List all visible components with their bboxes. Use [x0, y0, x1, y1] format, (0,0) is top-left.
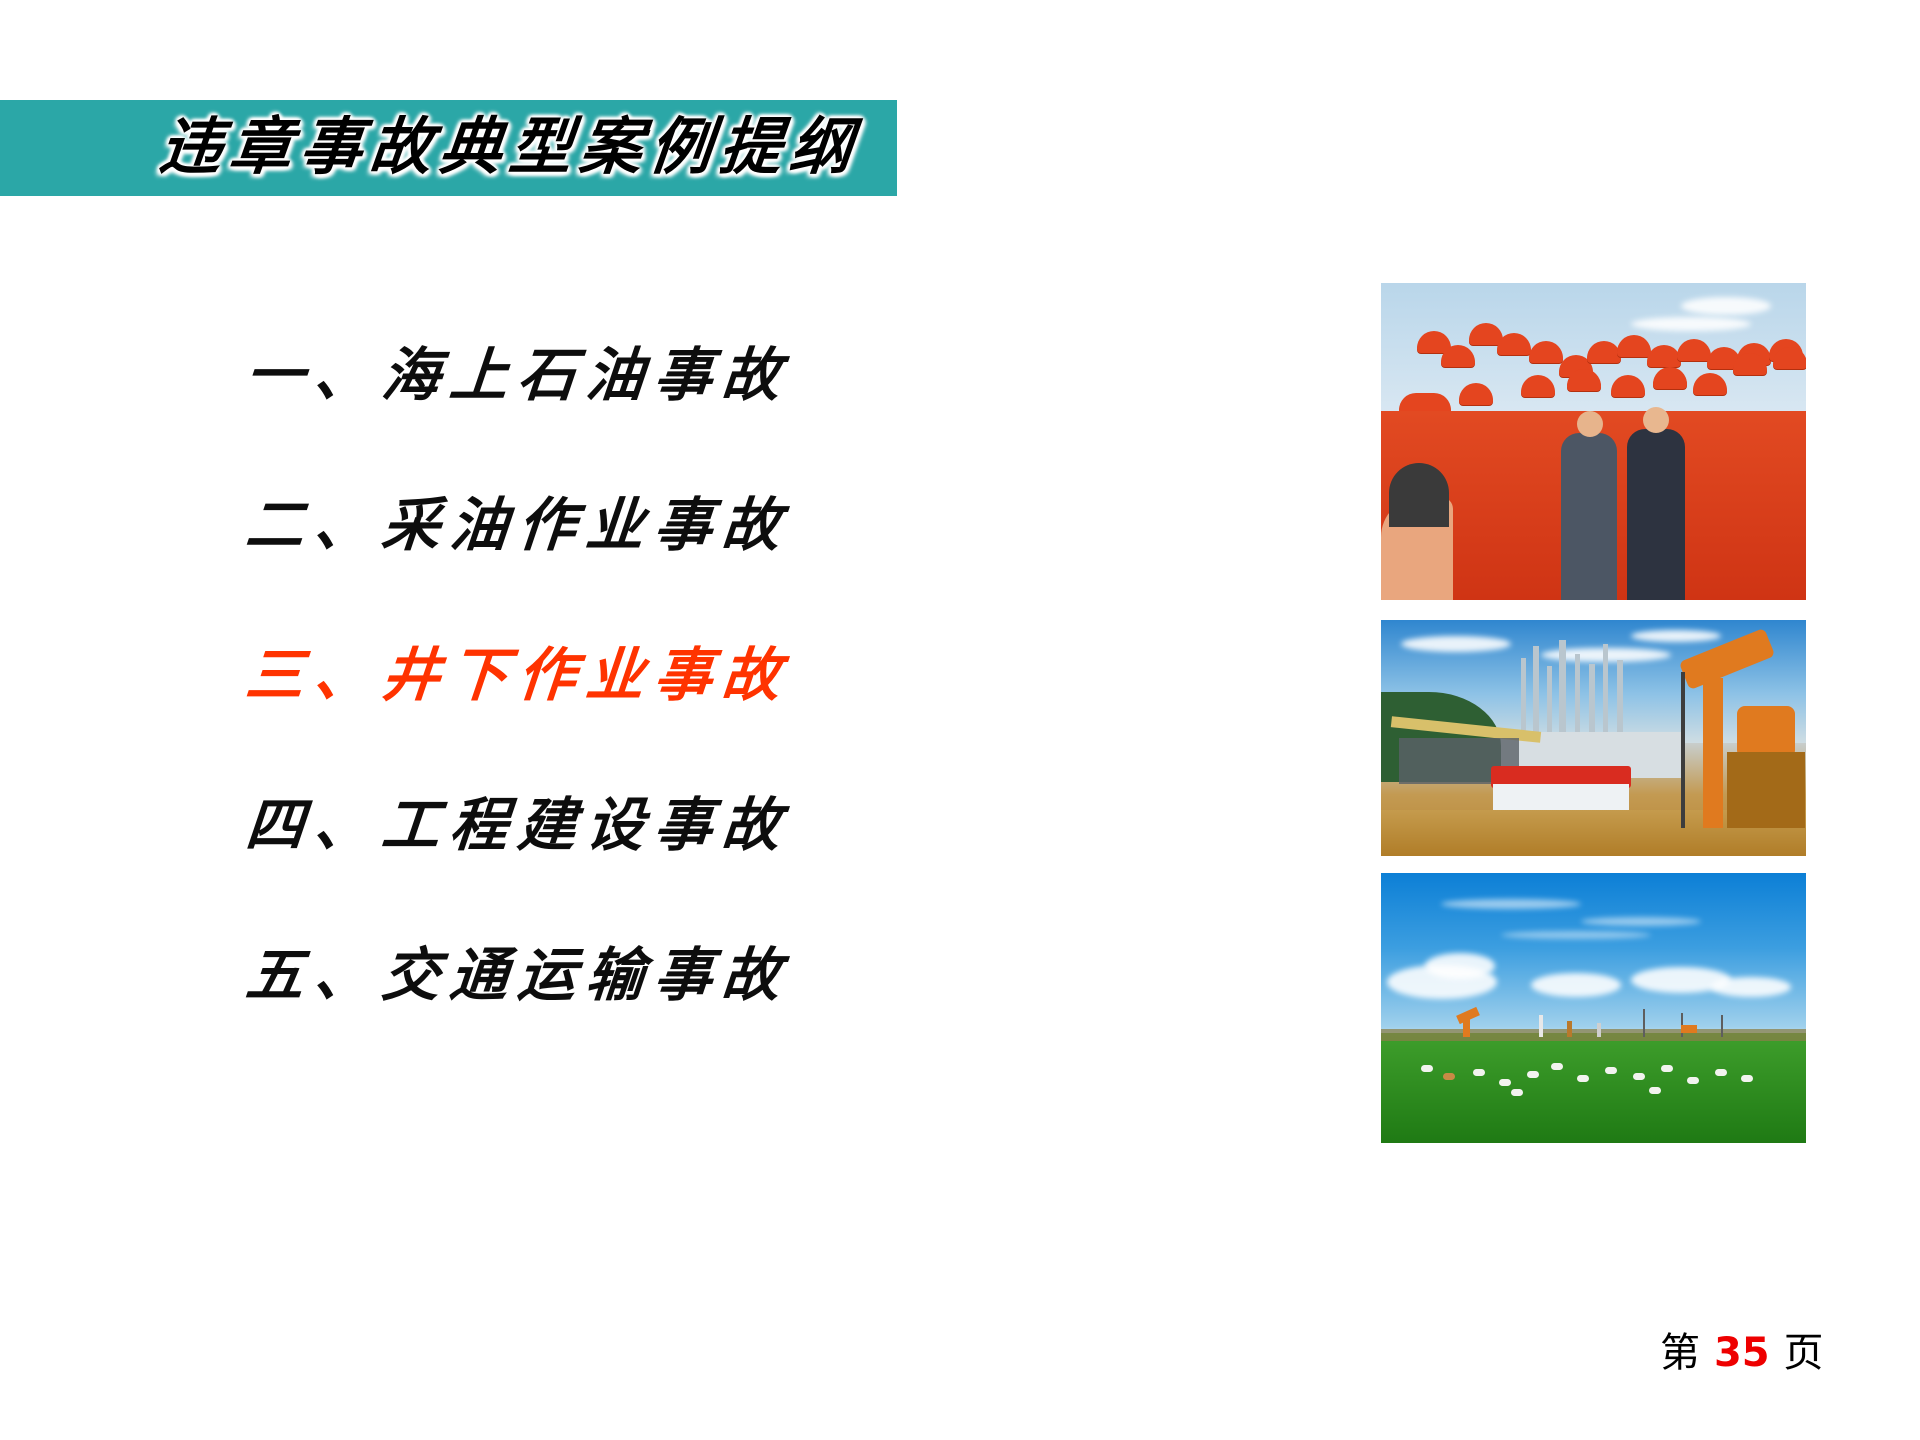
- page-prefix-label: 第: [1660, 1330, 1700, 1376]
- page-title: 违章事故典型案例提纲: [155, 97, 906, 197]
- page-suffix-label: 页: [1784, 1330, 1824, 1376]
- slide-canvas: 违章事故典型案例提纲 一、海上石油事故 二、采油作业事故 三、井下作业事故 四、…: [0, 0, 1920, 1440]
- outline-item-3[interactable]: 三、井下作业事故: [239, 600, 1012, 750]
- page-number-value: 35: [1714, 1330, 1770, 1376]
- outline-item-4[interactable]: 四、工程建设事故: [239, 750, 1012, 900]
- refinery-pumpjack-photo: [1381, 620, 1806, 856]
- outline-item-5[interactable]: 五、交通运输事故: [239, 900, 1012, 1050]
- outline-list: 一、海上石油事故 二、采油作业事故 三、井下作业事故 四、工程建设事故 五、交通…: [246, 300, 1006, 1050]
- grassland-oilfield-photo: [1381, 873, 1806, 1143]
- outline-item-1[interactable]: 一、海上石油事故: [239, 300, 1012, 450]
- oil-workers-group-photo: [1381, 283, 1806, 600]
- outline-item-2[interactable]: 二、采油作业事故: [239, 450, 1012, 600]
- page-number-footer: 第 35 页: [1660, 1320, 1824, 1378]
